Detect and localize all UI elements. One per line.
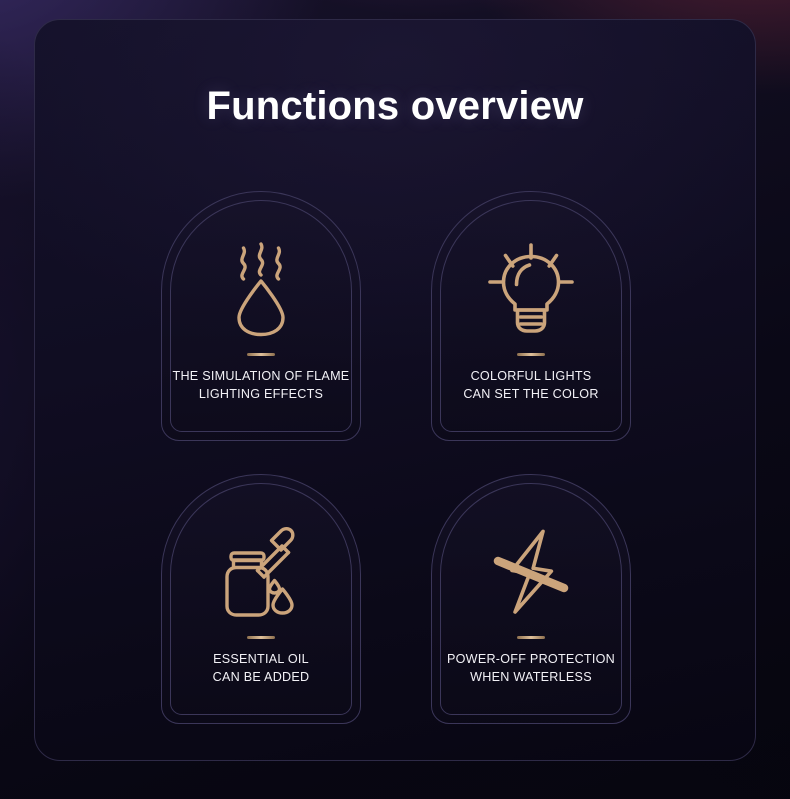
page-title: Functions overview <box>35 86 755 126</box>
card-caption: COLORFUL LIGHTS CAN SET THE COLOR <box>434 367 628 403</box>
functions-overview-panel: Functions overview <box>34 19 756 761</box>
steam-droplet-icon <box>226 241 296 337</box>
card-caption-line-1: THE SIMULATION OF FLAME <box>164 367 358 385</box>
card-caption-line-2: CAN SET THE COLOR <box>434 385 628 403</box>
card-caption-line-2: LIGHTING EFFECTS <box>164 385 358 403</box>
oil-bottle-dropper-icon <box>216 523 306 621</box>
card-caption-line-2: WHEN WATERLESS <box>434 668 628 686</box>
card-caption-line-1: COLORFUL LIGHTS <box>434 367 628 385</box>
icon-container <box>432 236 630 342</box>
lightning-bolt-slash-icon <box>481 522 581 622</box>
lightbulb-icon <box>485 242 577 336</box>
icon-container <box>162 236 360 342</box>
feature-card-flame-simulation[interactable]: THE SIMULATION OF FLAME LIGHTING EFFECTS <box>161 191 361 441</box>
feature-card-essential-oil[interactable]: ESSENTIAL OIL CAN BE ADDED <box>161 474 361 724</box>
card-caption-line-1: ESSENTIAL OIL <box>164 650 358 668</box>
card-caption-line-2: CAN BE ADDED <box>164 668 358 686</box>
card-divider <box>517 636 545 639</box>
card-divider <box>247 353 275 356</box>
icon-container <box>162 519 360 625</box>
feature-card-colorful-lights[interactable]: COLORFUL LIGHTS CAN SET THE COLOR <box>431 191 631 441</box>
card-caption: POWER-OFF PROTECTION WHEN WATERLESS <box>434 650 628 686</box>
card-caption-line-1: POWER-OFF PROTECTION <box>434 650 628 668</box>
card-caption: ESSENTIAL OIL CAN BE ADDED <box>164 650 358 686</box>
feature-card-power-off-protection[interactable]: POWER-OFF PROTECTION WHEN WATERLESS <box>431 474 631 724</box>
card-caption: THE SIMULATION OF FLAME LIGHTING EFFECTS <box>164 367 358 403</box>
page-root: Functions overview <box>0 0 790 799</box>
features-grid: THE SIMULATION OF FLAME LIGHTING EFFECTS <box>131 191 661 724</box>
card-divider <box>247 636 275 639</box>
card-divider <box>517 353 545 356</box>
icon-container <box>432 519 630 625</box>
